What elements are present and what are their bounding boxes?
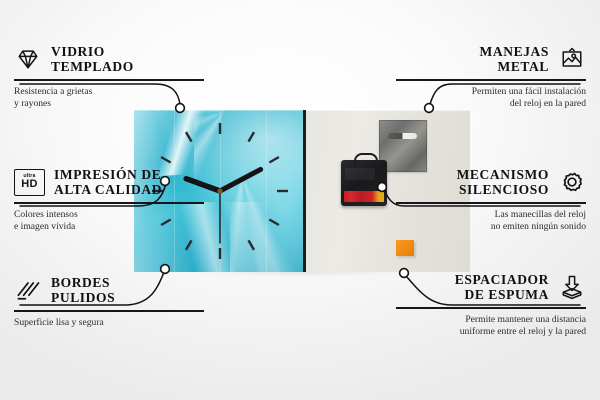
infographic-stage: VIDRIO TEMPLADO Resistencia a grietas y … bbox=[0, 0, 600, 400]
feature-title: BORDES PULIDOS bbox=[51, 275, 115, 305]
desc-line: y rayones bbox=[14, 98, 204, 111]
title-line: VIDRIO bbox=[51, 44, 134, 59]
title-line: DE ESPUMA bbox=[455, 287, 549, 302]
feature-divider bbox=[14, 79, 204, 80]
feature-espaciador-de-espuma: ESPACIADOR DE ESPUMA Permite mantener un… bbox=[396, 272, 586, 339]
feature-description: Colores intensos e imagen vívida bbox=[14, 209, 204, 234]
title-line: SILENCIOSO bbox=[457, 182, 549, 197]
desc-line: Permiten una fácil instalación bbox=[396, 86, 586, 99]
feature-title: VIDRIO TEMPLADO bbox=[51, 44, 134, 74]
feature-manejas-metal: MANEJAS METAL Permiten una fácil instala… bbox=[396, 44, 586, 111]
badge-main-label: HD bbox=[21, 179, 38, 190]
feature-description: Las manecillas del reloj no emiten ningú… bbox=[396, 209, 586, 234]
feature-title: MANEJAS METAL bbox=[480, 44, 549, 74]
desc-line: no emiten ningún sonido bbox=[396, 221, 586, 234]
mechanism-housing bbox=[345, 168, 375, 180]
feature-vidrio-templado: VIDRIO TEMPLADO Resistencia a grietas y … bbox=[14, 44, 204, 111]
feature-impresion-alta-calidad: ultra HD IMPRESIÓN DE ALTA CALIDAD Color… bbox=[14, 167, 204, 234]
battery-icon bbox=[344, 191, 384, 202]
title-line: ALTA CALIDAD bbox=[54, 182, 162, 197]
hanger-slot bbox=[388, 133, 417, 139]
desc-line: Permite mantener una distancia bbox=[396, 314, 586, 327]
desc-line: Superficie lisa y segura bbox=[14, 317, 204, 330]
foam-spacer-arrow-icon bbox=[558, 273, 586, 301]
feature-bordes-pulidos: BORDES PULIDOS Superficie lisa y segura bbox=[14, 275, 204, 329]
title-line: PULIDOS bbox=[51, 290, 115, 305]
desc-line: Colores intensos bbox=[14, 209, 204, 222]
desc-line: Las manecillas del reloj bbox=[396, 209, 586, 222]
title-line: ESPACIADOR bbox=[455, 272, 549, 287]
feature-title: ESPACIADOR DE ESPUMA bbox=[455, 272, 549, 302]
foam-spacer-pad-icon bbox=[396, 240, 414, 256]
feature-header: ultra HD IMPRESIÓN DE ALTA CALIDAD bbox=[14, 167, 204, 197]
battery-terminal bbox=[379, 191, 384, 202]
feature-divider bbox=[14, 310, 204, 311]
feature-description: Permiten una fácil instalación del reloj… bbox=[396, 86, 586, 111]
feature-divider bbox=[396, 79, 586, 80]
feature-title: MECANISMO SILENCIOSO bbox=[457, 167, 549, 197]
title-line: MECANISMO bbox=[457, 167, 549, 182]
title-line: MANEJAS bbox=[480, 44, 549, 59]
desc-line: uniforme entre el reloj y la pared bbox=[396, 326, 586, 339]
title-line: IMPRESIÓN DE bbox=[54, 167, 162, 182]
title-line: METAL bbox=[480, 59, 549, 74]
feature-divider bbox=[14, 202, 204, 203]
feature-mecanismo-silencioso: MECANISMO SILENCIOSO Las manecillas del … bbox=[396, 167, 586, 234]
feature-divider bbox=[396, 202, 586, 203]
feature-header: VIDRIO TEMPLADO bbox=[14, 44, 204, 74]
feature-header: ESPACIADOR DE ESPUMA bbox=[396, 272, 586, 302]
title-line: TEMPLADO bbox=[51, 59, 134, 74]
ultra-hd-badge-icon: ultra HD bbox=[14, 169, 45, 196]
desc-line: Resistencia a grietas bbox=[14, 86, 204, 99]
feature-divider bbox=[396, 307, 586, 308]
diamond-icon bbox=[14, 45, 42, 73]
feature-description: Permite mantener una distancia uniforme … bbox=[396, 314, 586, 339]
picture-frame-hanger-icon bbox=[558, 45, 586, 73]
title-line: BORDES bbox=[51, 275, 115, 290]
desc-line: del reloj en la pared bbox=[396, 98, 586, 111]
feature-header: BORDES PULIDOS bbox=[14, 275, 204, 305]
feature-title: IMPRESIÓN DE ALTA CALIDAD bbox=[54, 167, 162, 197]
polished-edges-icon bbox=[14, 276, 42, 304]
mechanism-hanging-loop bbox=[354, 153, 378, 167]
desc-line: e imagen vívida bbox=[14, 221, 204, 234]
feature-header: MECANISMO SILENCIOSO bbox=[396, 167, 586, 197]
feature-description: Superficie lisa y segura bbox=[14, 317, 204, 330]
feature-description: Resistencia a grietas y rayones bbox=[14, 86, 204, 111]
feature-header: MANEJAS METAL bbox=[396, 44, 586, 74]
quartz-mechanism-icon bbox=[341, 160, 387, 206]
gear-icon bbox=[558, 168, 586, 196]
